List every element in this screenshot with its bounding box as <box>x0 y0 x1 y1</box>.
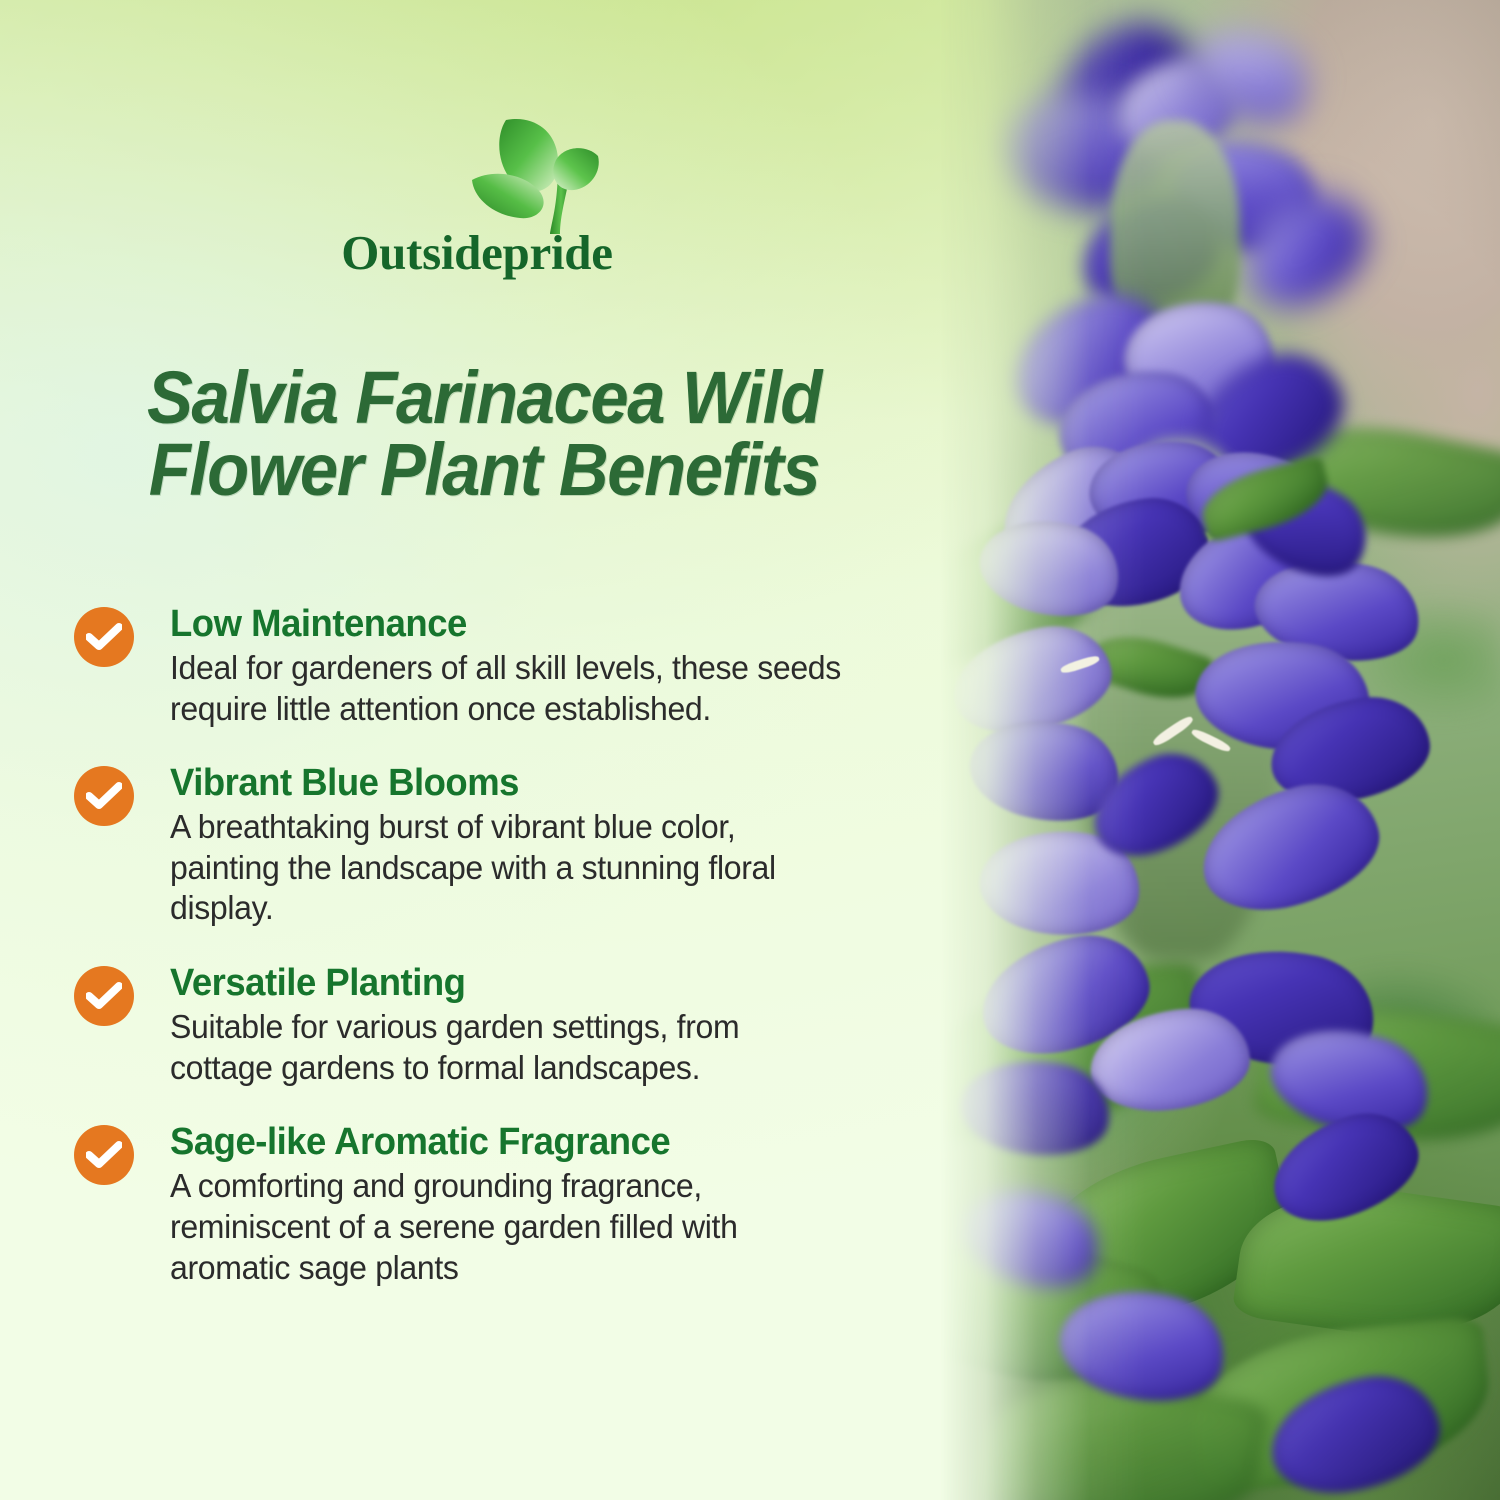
brand-logo[interactable]: Outsidepride <box>322 112 632 282</box>
page-title: Salvia Farinacea Wild Flower Plant Benef… <box>77 362 892 507</box>
benefit-description: Suitable for various garden settings, fr… <box>170 1007 911 1088</box>
benefit-item: Vibrant Blue Blooms A breathtaking burst… <box>74 761 934 929</box>
brand-wordmark: Outsidepride <box>322 228 632 277</box>
leaf-sprout-icon <box>470 112 602 234</box>
benefit-description: A breathtaking burst of vibrant blue col… <box>170 807 911 929</box>
benefits-list: Low Maintenance Ideal for gardeners of a… <box>74 602 934 1288</box>
benefit-title: Low Maintenance <box>170 602 903 646</box>
check-circle-icon <box>74 966 134 1026</box>
check-circle-icon <box>74 1125 134 1185</box>
benefit-title: Sage-like Aromatic Fragrance <box>170 1120 903 1164</box>
benefit-title: Versatile Planting <box>170 961 903 1005</box>
infographic-canvas: Outsidepride Salvia Farinacea Wild Flowe… <box>0 0 1500 1500</box>
benefit-item: Versatile Planting Suitable for various … <box>74 961 934 1088</box>
benefit-description: Ideal for gardeners of all skill levels,… <box>170 648 911 729</box>
check-circle-icon <box>74 607 134 667</box>
benefit-title: Vibrant Blue Blooms <box>170 761 903 805</box>
benefit-item: Sage-like Aromatic Fragrance A comfortin… <box>74 1120 934 1288</box>
photo-vignette <box>940 0 1500 1500</box>
benefit-item: Low Maintenance Ideal for gardeners of a… <box>74 602 934 729</box>
check-circle-icon <box>74 766 134 826</box>
blue-salvia-flower-photo <box>940 0 1500 1500</box>
benefit-description: A comforting and grounding fragrance, re… <box>170 1166 911 1288</box>
